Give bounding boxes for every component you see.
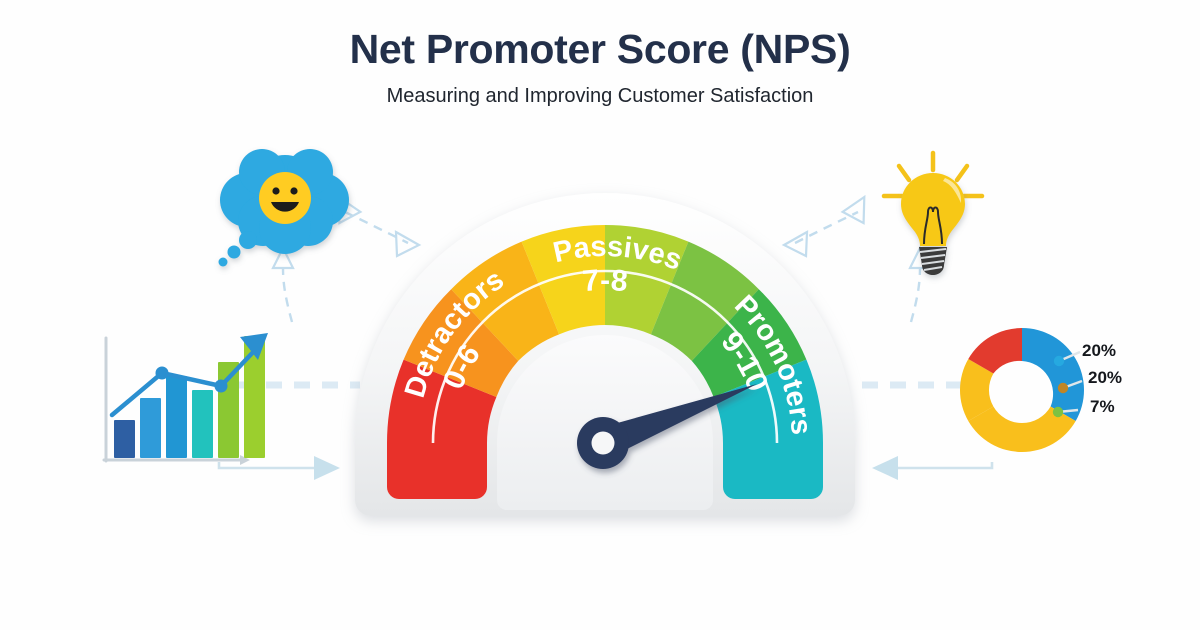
thought-bubble-dot-3	[219, 258, 228, 267]
thought-bubble-dot-2	[228, 246, 241, 259]
thought-bubble-smiley-icon	[219, 149, 350, 267]
icon-layer	[0, 0, 1200, 630]
infographic-canvas: Net Promoter Score (NPS) Measuring and I…	[0, 0, 1200, 630]
thought-bubble-dot-1	[239, 231, 257, 249]
smiley-face-circle	[259, 172, 311, 224]
smiley-eye-left	[272, 187, 279, 194]
smiley-eye-right	[290, 187, 297, 194]
lightbulb-idea-icon	[884, 153, 982, 275]
